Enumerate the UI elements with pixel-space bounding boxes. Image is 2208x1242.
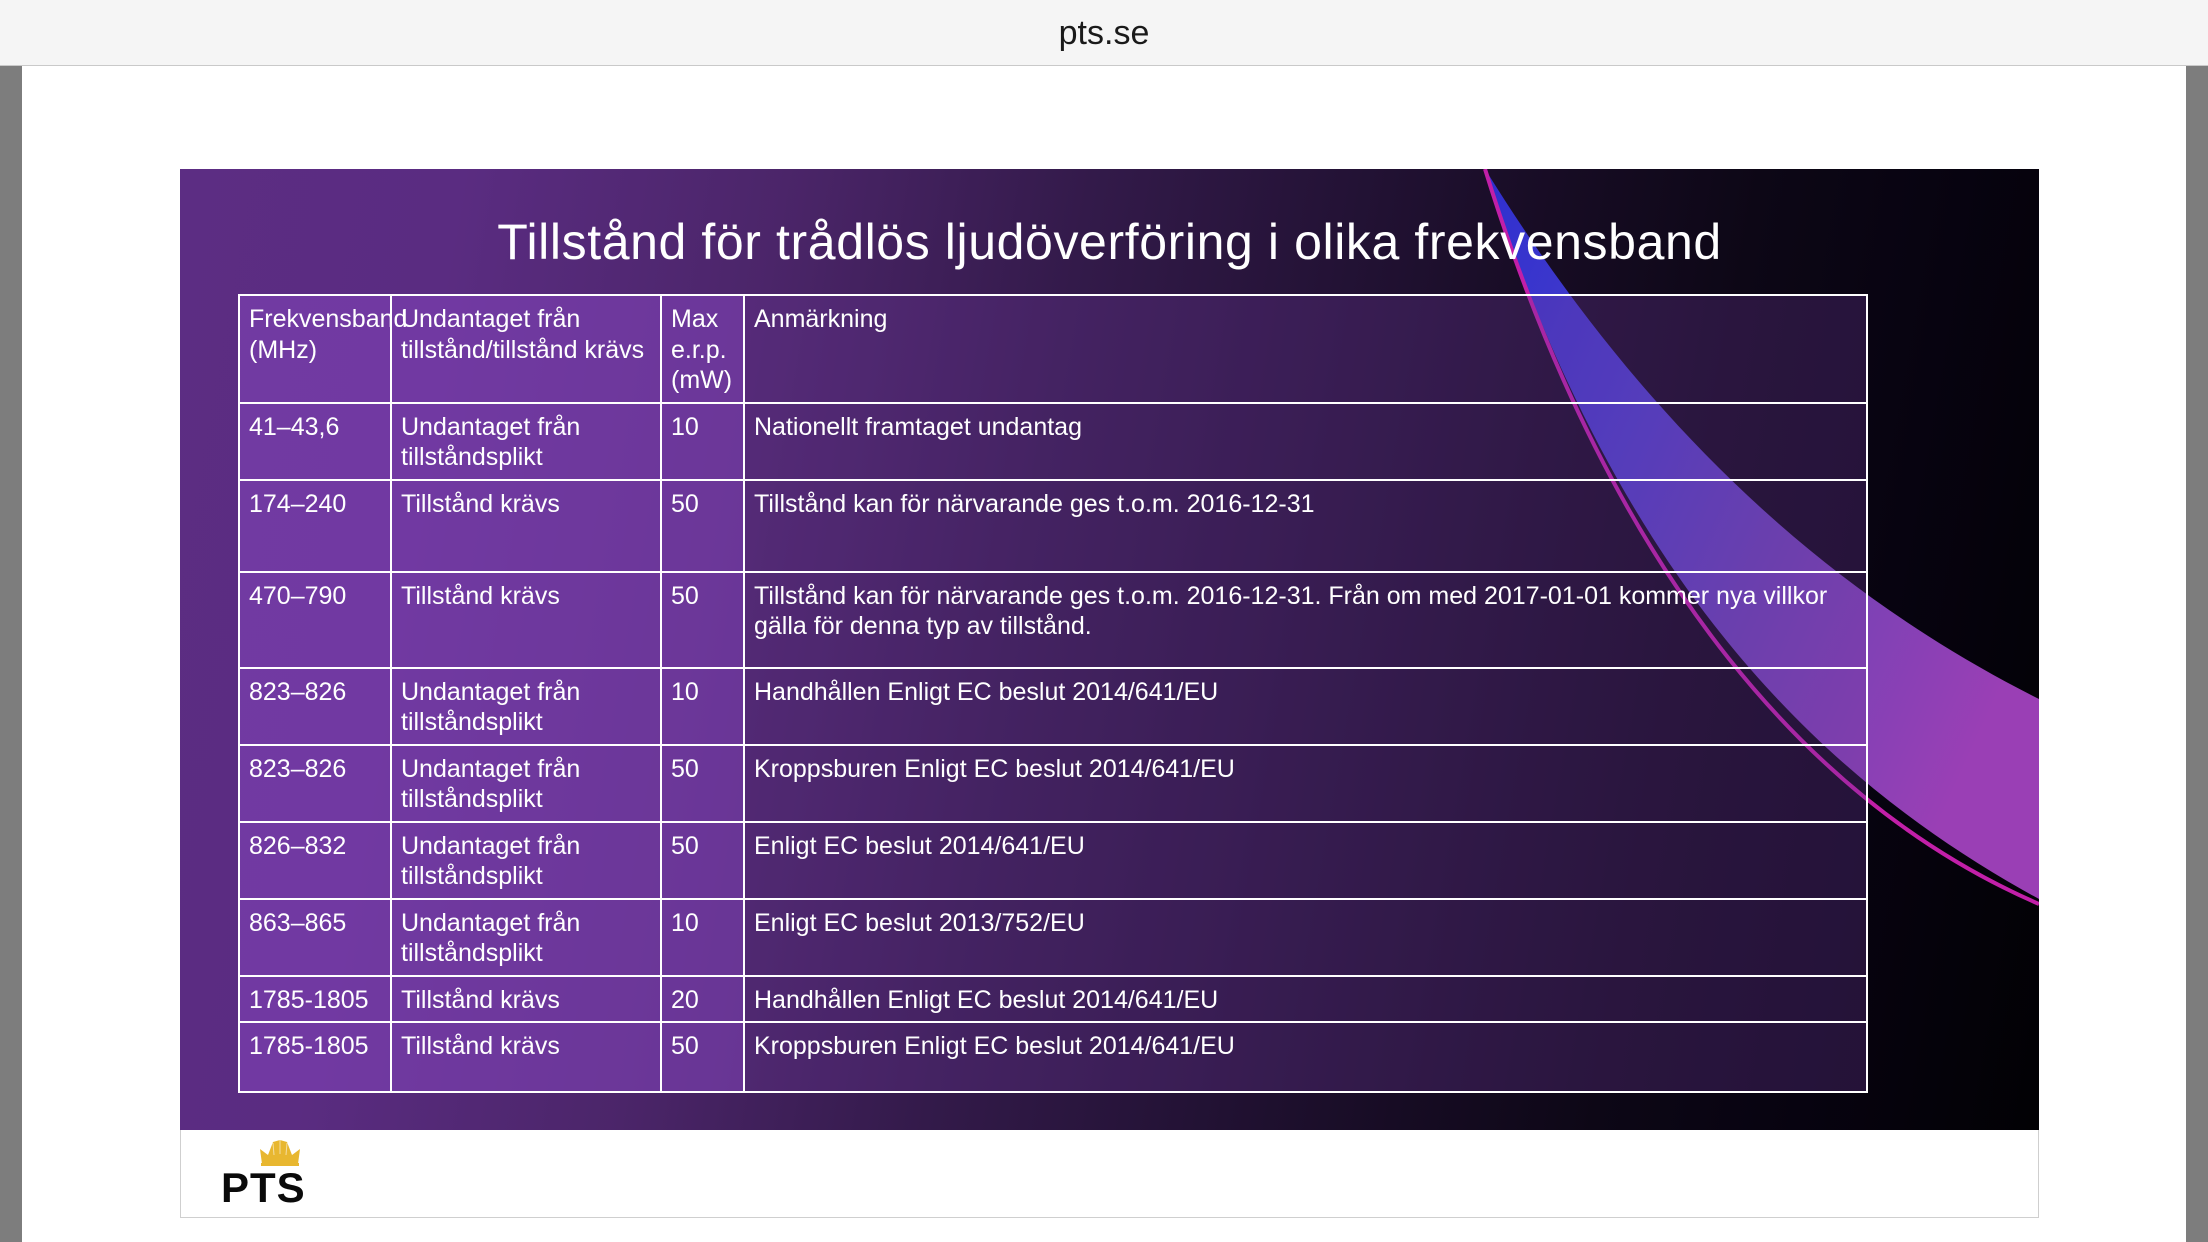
cell-undantaget: Undantaget från tillståndsplikt	[391, 403, 661, 480]
table-row: 41–43,6 Undantaget från tillståndsplikt …	[239, 403, 1867, 480]
cell-anmarkning: Kroppsburen Enligt EC beslut 2014/641/EU	[744, 745, 1867, 822]
header-line-1: Max	[671, 305, 718, 333]
slide-footer: PTS	[180, 1130, 2039, 1218]
header-line-1: Undantaget från	[401, 305, 580, 333]
cell-max-erp: 50	[661, 480, 744, 572]
column-header-anmarkning: Anmärkning	[744, 295, 1867, 403]
column-header-frekvensband: Frekvensband (MHz)	[239, 295, 391, 403]
cell-anmarkning: Tillstånd kan för närvarande ges t.o.m. …	[744, 480, 1867, 572]
page-title: pts.se	[0, 0, 2208, 66]
cell-undantaget: Tillstånd krävs	[391, 976, 661, 1023]
cell-max-erp: 50	[661, 1022, 744, 1092]
pts-logo: PTS	[221, 1140, 351, 1210]
cell-max-erp: 50	[661, 822, 744, 899]
browser-top-bar: pts.se	[0, 0, 2208, 66]
cell-max-erp: 50	[661, 745, 744, 822]
cell-undantaget: Undantaget från tillståndsplikt	[391, 899, 661, 976]
cell-undantaget: Tillstånd krävs	[391, 572, 661, 668]
cell-anmarkning: Handhållen Enligt EC beslut 2014/641/EU	[744, 668, 1867, 745]
cell-frekvensband: 1785-1805	[239, 976, 391, 1023]
slide-title: Tillstånd för trådlös ljudöverföring i o…	[180, 213, 2039, 271]
cell-max-erp: 50	[661, 572, 744, 668]
frequency-band-table: Frekvensband (MHz) Undantaget från tills…	[238, 294, 1868, 1093]
cell-undantaget: Tillstånd krävs	[391, 480, 661, 572]
cell-anmarkning: Nationellt framtaget undantag	[744, 403, 1867, 480]
cell-max-erp: 10	[661, 668, 744, 745]
cell-frekvensband: 1785-1805	[239, 1022, 391, 1092]
cell-undantaget: Undantaget från tillståndsplikt	[391, 745, 661, 822]
cell-undantaget: Tillstånd krävs	[391, 1022, 661, 1092]
table-header-row: Frekvensband (MHz) Undantaget från tills…	[239, 295, 1867, 403]
presentation-slide: Tillstånd för trådlös ljudöverföring i o…	[180, 169, 2039, 1130]
cell-undantaget: Undantaget från tillståndsplikt	[391, 668, 661, 745]
table-row: 823–826 Undantaget från tillståndsplikt …	[239, 668, 1867, 745]
cell-max-erp: 20	[661, 976, 744, 1023]
cell-anmarkning: Enligt EC beslut 2013/752/EU	[744, 899, 1867, 976]
table-row: 470–790 Tillstånd krävs 50 Tillstånd kan…	[239, 572, 1867, 668]
cell-frekvensband: 863–865	[239, 899, 391, 976]
header-line-1: Frekvensband	[249, 305, 407, 333]
cell-anmarkning: Kroppsburen Enligt EC beslut 2014/641/EU	[744, 1022, 1867, 1092]
cell-max-erp: 10	[661, 403, 744, 480]
cell-anmarkning: Enligt EC beslut 2014/641/EU	[744, 822, 1867, 899]
header-line-1: Anmärkning	[754, 305, 887, 333]
column-header-undantaget: Undantaget från tillstånd/tillstånd kräv…	[391, 295, 661, 403]
table-row: 863–865 Undantaget från tillståndsplikt …	[239, 899, 1867, 976]
pts-logo-text: PTS	[221, 1164, 351, 1212]
header-line-3: (mW)	[671, 366, 732, 394]
column-header-max-erp: Max e.r.p. (mW)	[661, 295, 744, 403]
table-row: 823–826 Undantaget från tillståndsplikt …	[239, 745, 1867, 822]
scrollbar-left[interactable]	[0, 66, 22, 1242]
table-row: 1785-1805 Tillstånd krävs 50 Kroppsburen…	[239, 1022, 1867, 1092]
cell-max-erp: 10	[661, 899, 744, 976]
cell-anmarkning: Handhållen Enligt EC beslut 2014/641/EU	[744, 976, 1867, 1023]
cell-frekvensband: 174–240	[239, 480, 391, 572]
cell-frekvensband: 41–43,6	[239, 403, 391, 480]
cell-anmarkning: Tillstånd kan för närvarande ges t.o.m. …	[744, 572, 1867, 668]
crown-icon	[257, 1140, 303, 1166]
header-line-2: e.r.p.	[671, 336, 727, 364]
header-line-2: (MHz)	[249, 336, 317, 364]
cell-frekvensband: 470–790	[239, 572, 391, 668]
cell-frekvensband: 826–832	[239, 822, 391, 899]
table-row: 826–832 Undantaget från tillståndsplikt …	[239, 822, 1867, 899]
scrollbar-right[interactable]	[2186, 66, 2208, 1242]
cell-undantaget: Undantaget från tillståndsplikt	[391, 822, 661, 899]
table-row: 1785-1805 Tillstånd krävs 20 Handhållen …	[239, 976, 1867, 1023]
table-row: 174–240 Tillstånd krävs 50 Tillstånd kan…	[239, 480, 1867, 572]
cell-frekvensband: 823–826	[239, 745, 391, 822]
header-line-2: tillstånd/tillstånd krävs	[401, 336, 644, 364]
cell-frekvensband: 823–826	[239, 668, 391, 745]
